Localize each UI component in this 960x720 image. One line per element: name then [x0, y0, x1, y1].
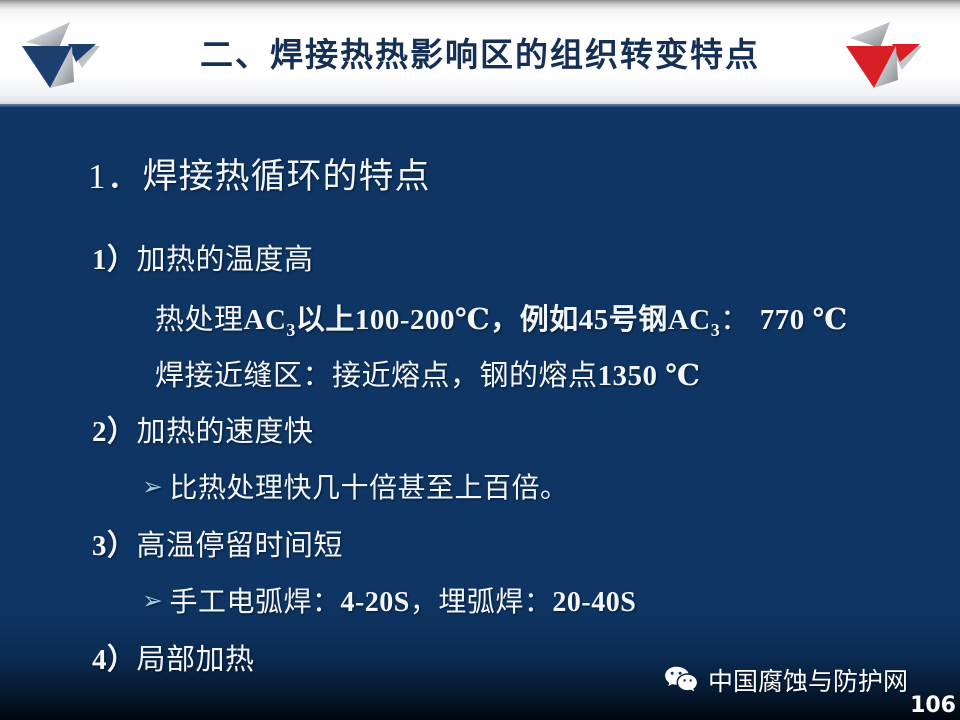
detail-1a-mid: 以上100-200℃，例如45号钢 [296, 304, 668, 336]
list-text-2: 加热的速度快 [137, 416, 314, 448]
watermark-text: 中国腐蚀与防护网 [708, 662, 908, 698]
page-number: 106 [910, 693, 956, 718]
list-marker-2: 2） [92, 416, 137, 448]
detail-line-1b: 焊接近缝区：接近熔点，钢的熔点1350 ℃ [155, 352, 701, 394]
slide: 二、焊接热热影响区的组织转变特点 1．焊接热循环的特点 1）加热的温度高 热处理… [0, 0, 960, 720]
bullet-3-pre: 手工电弧焊： [169, 587, 340, 618]
bullet-3-mid: ，埋弧焊： [410, 587, 553, 618]
bullet-arrow-icon: ➢ [142, 472, 163, 502]
detail-1a-ac: AC [244, 304, 287, 336]
header-divider [0, 104, 960, 107]
section-heading: 1．焊接热循环的特点 [88, 148, 431, 199]
page-title: 二、焊接热热影响区的组织转变特点 [0, 0, 960, 104]
detail-1a-value: 770 ℃ [760, 304, 848, 336]
detail-1a-ac2: AC [668, 304, 711, 336]
detail-1b-pre: 焊接近缝区：接近熔点，钢的熔点 [155, 360, 598, 392]
detail-1b-value: 1350 ℃ [598, 360, 701, 392]
list-text-3: 高温停留时间短 [137, 530, 344, 562]
detail-1a-pre: 热处理 [155, 304, 244, 336]
bullet-line-2: ➢比热处理快几十倍甚至上百倍。 [142, 466, 568, 506]
wechat-icon [663, 665, 699, 695]
bullet-text-2: 比热处理快几十倍甚至上百倍。 [169, 473, 568, 504]
detail-line-1a: 热处理AC3以上100-200℃，例如45号钢AC3：770 ℃ [155, 296, 848, 341]
list-item-1: 1）加热的温度高 [92, 236, 314, 278]
detail-1a-sub: 3 [286, 320, 295, 340]
bullet-3-value-1: 4-20S [340, 587, 409, 618]
bullet-arrow-icon-2: ➢ [142, 586, 163, 616]
watermark: 中国腐蚀与防护网 [663, 662, 908, 698]
bullet-3-value-2: 20-40S [552, 587, 636, 618]
bullet-line-3: ➢手工电弧焊：4-20S，埋弧焊：20-40S [142, 580, 636, 620]
detail-1a-sub2: 3 [711, 320, 720, 340]
list-item-3: 3）高温停留时间短 [92, 522, 343, 564]
slide-header: 二、焊接热热影响区的组织转变特点 [0, 0, 960, 106]
list-text-1: 加热的温度高 [137, 244, 314, 276]
list-marker-1: 1） [92, 244, 137, 276]
list-item-4: 4）局部加热 [92, 636, 255, 678]
list-text-4: 局部加热 [137, 644, 255, 676]
detail-1a-post: ： [720, 304, 750, 336]
list-marker-4: 4） [92, 644, 137, 676]
list-item-2: 2）加热的速度快 [92, 408, 314, 450]
list-marker-3: 3） [92, 530, 137, 562]
